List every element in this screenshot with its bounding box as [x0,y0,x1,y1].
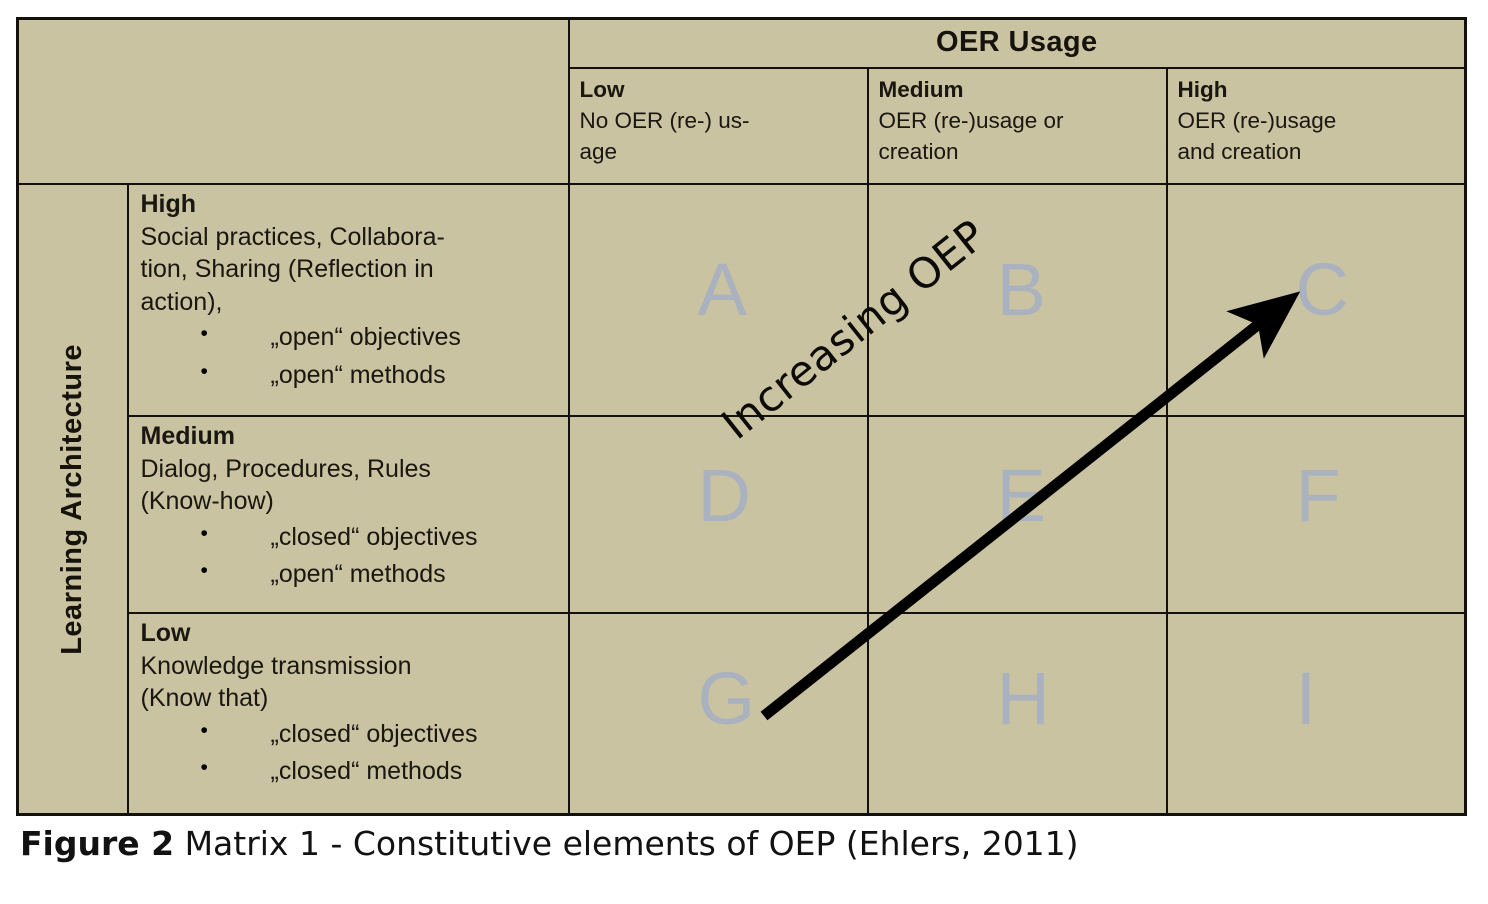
figure-container: OER Usage Low No OER (re-) us- age Mediu… [0,0,1488,904]
column-header-low-line2: age [580,139,618,164]
column-header-medium-level: Medium [879,74,1158,105]
quadrant-letter-H: H [997,662,1050,736]
quadrant-letter-E: E [997,459,1046,533]
row-bullets-low: „closed“ objectives „closed“ methods [141,716,562,791]
quadrant-cell-F: F [1167,416,1466,613]
row-body-low-line2: (Know that) [141,682,562,715]
column-header-high-level: High [1178,74,1457,105]
column-header-low: Low No OER (re-) us- age [569,68,868,184]
row-axis-title-cell: Learning Architecture [18,184,128,815]
figure-caption: Figure 2 Matrix 1 - Constitutive element… [20,824,1079,863]
row-body-high-line2: tion, Sharing (Reflection in [141,253,562,286]
header-title-row: OER Usage [18,19,1466,69]
quadrant-cell-G: G [569,613,868,815]
quadrant-cell-C: C [1167,184,1466,416]
row-level-low: Low [141,617,562,650]
column-header-low-level: Low [580,74,859,105]
matrix-row-low: Low Knowledge transmission (Know that) „… [18,613,1466,815]
column-header-high-line1: OER (re-)usage [1178,108,1337,133]
quadrant-cell-D: D [569,416,868,613]
quadrant-letter-F: F [1296,459,1341,533]
row-body-high-line3: action), [141,286,562,319]
row-bullets-medium: „closed“ objectives „open“ methods [141,519,562,594]
column-header-high: High OER (re-)usage and creation [1167,68,1466,184]
column-header-medium-line1: OER (re-)usage or [879,108,1064,133]
row-level-high: High [141,188,562,221]
list-item: „closed“ objectives [141,716,562,754]
quadrant-cell-E: E [868,416,1167,613]
quadrant-letter-B: B [997,253,1046,327]
row-body-high-line1: Social practices, Collabora- [141,221,562,254]
column-header-high-line2: and creation [1178,139,1302,164]
row-body-low-line1: Knowledge transmission [141,650,562,683]
row-body-medium-line2: (Know-how) [141,485,562,518]
column-header-medium: Medium OER (re-)usage or creation [868,68,1167,184]
column-header-low-line1: No OER (re-) us- [580,108,750,133]
quadrant-letter-D: D [698,459,751,533]
list-item: „closed“ objectives [141,519,562,557]
caption-text: Matrix 1 - Constitutive elements of OEP … [174,824,1078,863]
quadrant-cell-I: I [1167,613,1466,815]
quadrant-letter-G: G [698,662,756,736]
caption-label: Figure 2 [20,824,174,863]
quadrant-letter-A: A [698,253,747,327]
row-description-low: Low Knowledge transmission (Know that) „… [128,613,569,815]
header-corner-cell [18,19,569,185]
column-axis-title: OER Usage [569,19,1466,69]
row-bullets-high: „open“ objectives „open“ methods [141,319,562,394]
row-description-medium: Medium Dialog, Procedures, Rules (Know-h… [128,416,569,613]
row-description-high: High Social practices, Collabora- tion, … [128,184,569,416]
row-level-medium: Medium [141,420,562,453]
quadrant-letter-C: C [1296,253,1349,327]
quadrant-cell-H: H [868,613,1167,815]
list-item: „open“ methods [141,357,562,395]
list-item: „open“ methods [141,556,562,594]
list-item: „open“ objectives [141,319,562,357]
quadrant-letter-I: I [1296,662,1317,736]
matrix-row-high: Learning Architecture High Social practi… [18,184,1466,416]
row-body-medium-line1: Dialog, Procedures, Rules [141,453,562,486]
row-axis-title: Learning Architecture [56,344,89,655]
list-item: „closed“ methods [141,753,562,791]
column-header-medium-line2: creation [879,139,959,164]
